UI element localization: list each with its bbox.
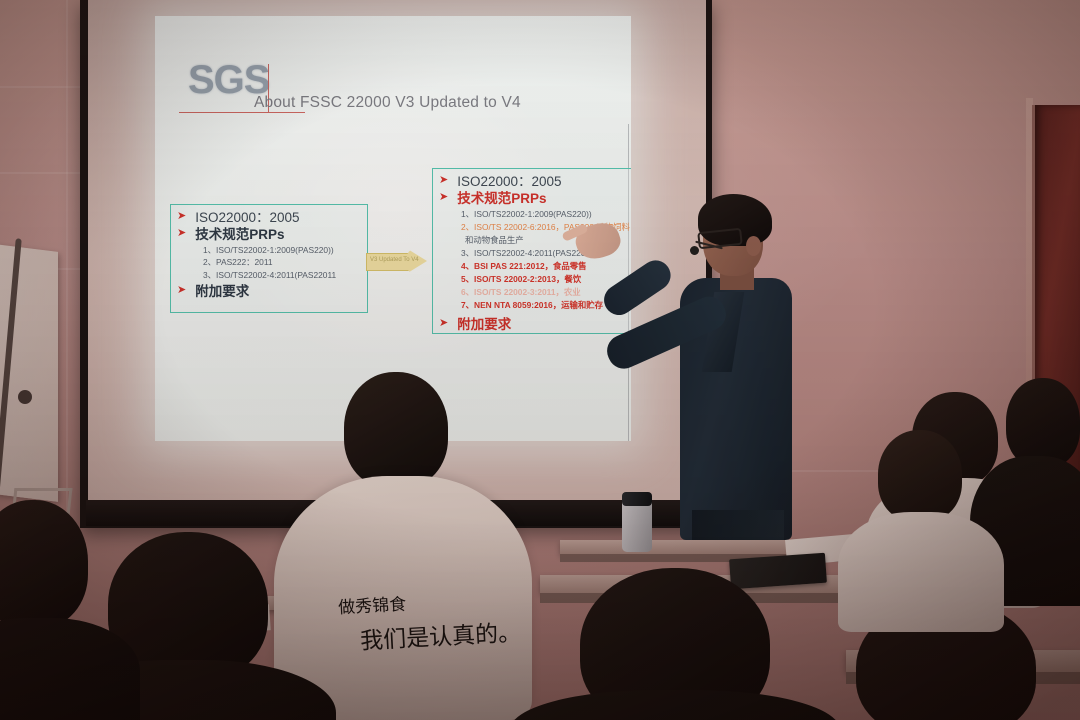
left-bullet-1: ➤ ISO22000：2005 [177,210,367,227]
right-footer-bullet-label: 附加要求 [450,317,511,334]
red-arrow-bullet-icon: ➤ [177,211,186,222]
presenter-forearm [598,255,676,321]
left-bullet-1-label: ISO22000：2005 [188,210,299,227]
audience-head [1006,378,1080,468]
left-bullet-2: ➤ 技术规范PRPs [177,227,367,244]
audience-head [344,372,448,488]
audience-shoulders [838,512,1004,632]
right-bullet-1-label: ISO22000：2005 [450,174,561,191]
right-bullet-2-label: 技术规范PRPs [450,191,546,208]
left-sub-item-2: 2、PAS222：2011 [177,256,367,269]
left-sub-item-1: 1、ISO/TS22002-1:2009(PAS220)) [177,244,367,257]
red-arrow-bullet-icon: ➤ [439,192,448,203]
red-arrow-bullet-icon: ➤ [439,175,448,186]
left-footer-bullet: ➤ 附加要求 [177,284,367,301]
red-arrow-bullet-icon: ➤ [439,318,448,329]
left-sub-item-3: 3、ISO/TS22002-4:2011(PAS22011 [177,269,367,282]
arrow-label: V3 Updated To V4 [370,257,419,263]
transition-arrow: V3 Updated To V4 [366,248,428,274]
red-arrow-bullet-icon: ➤ [177,285,186,296]
left-content-box: ➤ ISO22000：2005 ➤ 技术规范PRPs 1、ISO/TS22002… [170,204,368,313]
left-bullet-2-label: 技术规范PRPs [188,227,284,244]
wall-seam-vertical [66,0,68,540]
shirt-print: 做秀锦食 我们是认真的。 [330,588,540,658]
audience-head [878,430,962,522]
flipchart-knob [18,390,32,404]
classroom-photo-scene: SGS About FSSC 22000 V3 Updated to V4 ➤ … [0,0,1080,720]
red-arrow-bullet-icon: ➤ [177,228,186,239]
wall-seam-horizontal-a [0,172,82,174]
slide-title: About FSSC 22000 V3 Updated to V4 [254,94,521,112]
wall-seam-horizontal-b [0,86,82,88]
left-footer-bullet-label: 附加要求 [188,284,249,301]
thermos-cap [622,492,652,506]
presenter-ear [746,236,761,256]
headset-microphone-icon [690,246,699,255]
shirt-text-line-2: 我们是认真的。 [359,612,541,655]
presenter [600,180,830,540]
sgs-rule-horizontal [179,112,305,113]
